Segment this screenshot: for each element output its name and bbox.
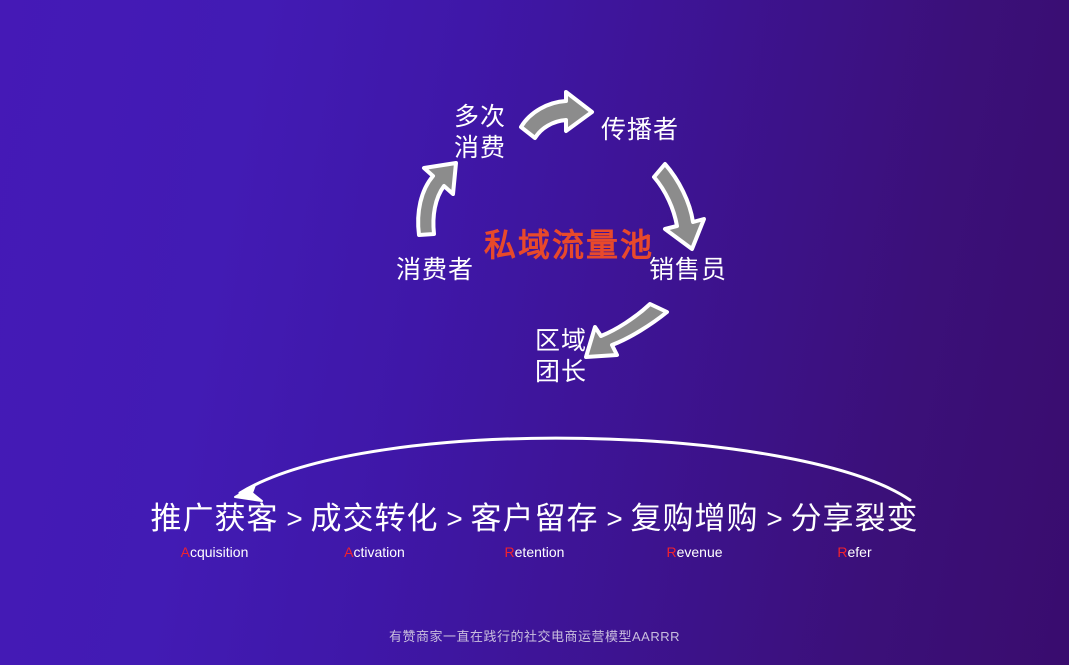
funnel-stage-cn: 复购增购 [630, 500, 760, 538]
aarrr-stage-row: 推广获客 Acquisition > 成交转化 Activation > 客户留… [0, 500, 1069, 561]
funnel-separator: > [600, 500, 630, 538]
slide-canvas: 多次 消费 传播者 销售员 区域 团长 消费者 私域流量池 推广获客 Acqui… [0, 0, 1069, 665]
cycle-node-xiaofeizhe: 消费者 [396, 255, 474, 286]
cycle-node-chuanbozhe: 传播者 [601, 115, 679, 146]
funnel-stage-retention[interactable]: 客户留存 Retention [470, 500, 600, 561]
funnel-stage-en: Activation [310, 544, 440, 561]
funnel-stage-en-rest: ctivation [353, 544, 404, 560]
funnel-stage-cn: 成交转化 [310, 500, 440, 538]
cycle-node-line: 消费 [452, 133, 508, 164]
arrow-bottom-icon [586, 304, 667, 357]
funnel-stage-en: Retention [470, 544, 600, 561]
arrow-top-icon [521, 92, 592, 138]
funnel-stage-en: Refer [790, 544, 920, 561]
slide-footer-caption: 有赞商家一直在践行的社交电商运营模型AARRR [0, 627, 1069, 647]
funnel-stage-en-rest: etention [515, 544, 565, 560]
cycle-node-xiaoshouyuan: 销售员 [649, 255, 727, 286]
funnel-stage-en-rest: efer [848, 544, 872, 560]
funnel-stage-en-initial: R [505, 544, 515, 560]
cycle-node-duoci-xiaofei: 多次 消费 [452, 102, 508, 164]
funnel-stage-en: Revenue [630, 544, 760, 561]
arrow-right-icon [654, 164, 704, 249]
funnel-stage-en-rest: evenue [677, 544, 723, 560]
private-traffic-cycle-diagram: 多次 消费 传播者 销售员 区域 团长 消费者 私域流量池 [0, 0, 1069, 430]
funnel-stage-acquisition[interactable]: 推广获客 Acquisition [150, 500, 280, 561]
funnel-stage-cn: 推广获客 [150, 500, 280, 538]
cycle-node-line: 多次 [452, 102, 508, 133]
funnel-stage-en-initial: R [837, 544, 847, 560]
funnel-stage-cn: 分享裂变 [790, 500, 920, 538]
funnel-stage-en: Acquisition [150, 544, 280, 561]
cycle-node-quyu-tuanzhang: 区域 团长 [535, 326, 591, 388]
funnel-stage-en-initial: A [181, 544, 190, 560]
funnel-stage-revenue[interactable]: 复购增购 Revenue [630, 500, 760, 561]
cycle-node-line: 团长 [535, 357, 591, 388]
funnel-separator: > [440, 500, 470, 538]
funnel-stage-activation[interactable]: 成交转化 Activation [310, 500, 440, 561]
funnel-stage-en-rest: cquisition [190, 544, 248, 560]
cycle-center-title: 私域流量池 [484, 220, 654, 266]
arrow-left-icon [418, 163, 456, 235]
funnel-stage-refer[interactable]: 分享裂变 Refer [790, 500, 920, 561]
aarrr-funnel: 推广获客 Acquisition > 成交转化 Activation > 客户留… [0, 500, 1069, 580]
cycle-node-line: 区域 [535, 326, 591, 357]
funnel-stage-cn: 客户留存 [470, 500, 600, 538]
funnel-separator: > [280, 500, 310, 538]
funnel-separator: > [760, 500, 790, 538]
funnel-stage-en-initial: R [666, 544, 676, 560]
